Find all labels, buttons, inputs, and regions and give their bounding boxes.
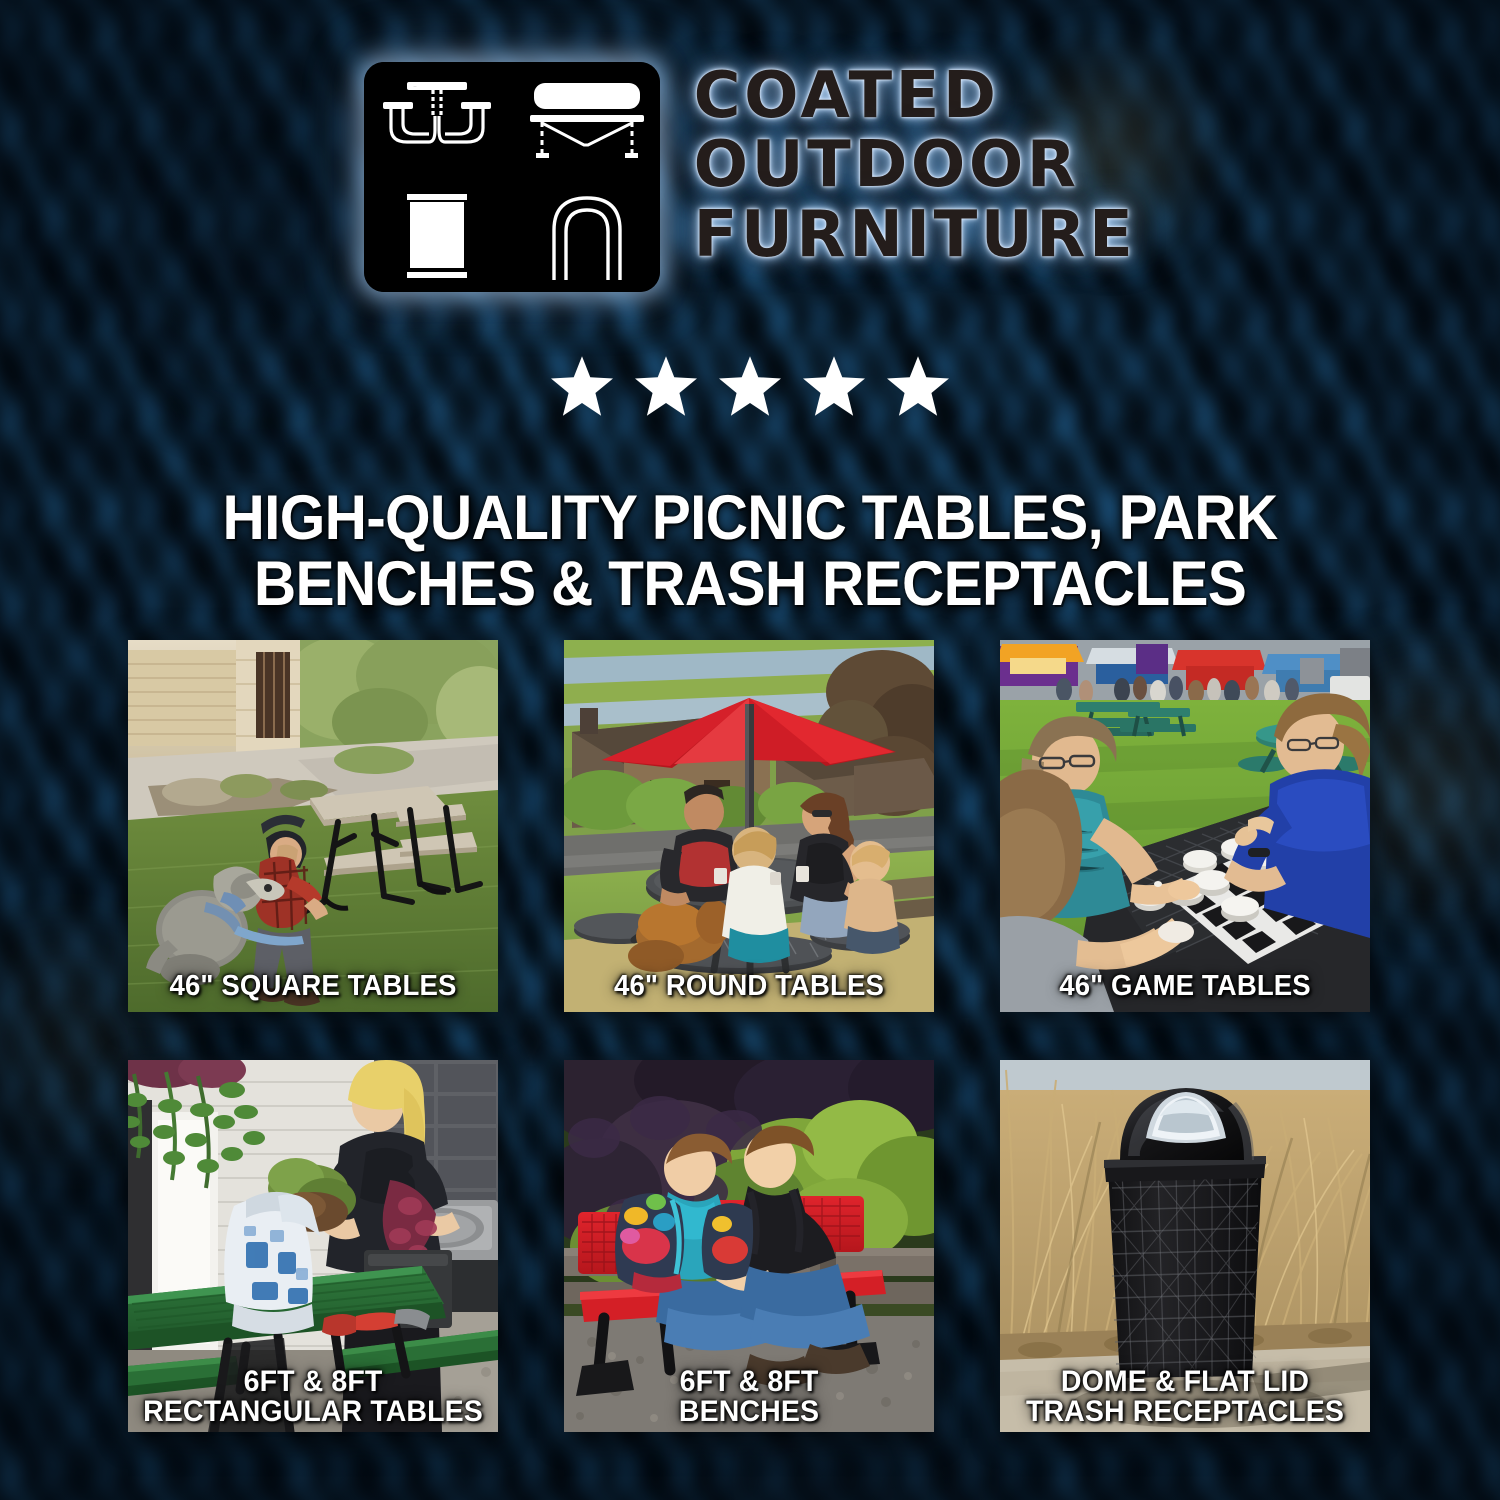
bench-icon — [514, 62, 660, 175]
product-tile-trash-receptacles[interactable]: DOME & FLAT LID TRASH RECEPTACLES — [1000, 1060, 1370, 1432]
round-table-photo — [564, 640, 934, 1012]
product-caption: 6FT & 8FT RECTANGULAR TABLES — [137, 1367, 489, 1428]
star-icon — [887, 356, 949, 416]
picnic-table-icon — [364, 62, 510, 175]
star-icon — [551, 356, 613, 416]
brand-logo: COATED OUTDOOR FURNITURE — [0, 62, 1500, 292]
star-rating — [0, 356, 1500, 416]
logo-line-2: OUTDOOR — [694, 135, 1137, 196]
product-caption: 46" SQUARE TABLES — [137, 972, 489, 1002]
game-table-photo — [1000, 640, 1370, 1012]
logo-line-1: COATED — [694, 66, 1137, 127]
star-icon — [635, 356, 697, 416]
square-table-photo — [128, 640, 498, 1012]
page-title: HIGH-QUALITY PICNIC TABLES, PARK BENCHES… — [108, 486, 1391, 617]
product-caption: 6FT & 8FT BENCHES — [573, 1367, 925, 1428]
promo-graphic: COATED OUTDOOR FURNITURE HIGH-QUALITY PI… — [0, 0, 1500, 1500]
product-tile-benches[interactable]: 6FT & 8FT BENCHES — [564, 1060, 934, 1432]
product-caption: 46" GAME TABLES — [1009, 972, 1361, 1002]
product-tile-round-tables[interactable]: 46" ROUND TABLES — [564, 640, 934, 1012]
product-tile-square-tables[interactable]: 46" SQUARE TABLES — [128, 640, 498, 1012]
logo-line-3: FURNITURE — [694, 205, 1137, 266]
arch-bike-rack-icon — [514, 179, 660, 292]
star-icon — [719, 356, 781, 416]
product-tile-rectangular-tables[interactable]: 6FT & 8FT RECTANGULAR TABLES — [128, 1060, 498, 1432]
trash-receptacle-icon — [364, 179, 510, 292]
product-grid: 46" SQUARE TABLES — [128, 640, 1374, 1432]
logo-mark — [364, 62, 660, 292]
product-caption: DOME & FLAT LID TRASH RECEPTACLES — [1009, 1367, 1361, 1428]
logo-wordmark: COATED OUTDOOR FURNITURE — [694, 62, 1137, 266]
product-caption: 46" ROUND TABLES — [573, 972, 925, 1002]
product-tile-game-tables[interactable]: 46" GAME TABLES — [1000, 640, 1370, 1012]
star-icon — [803, 356, 865, 416]
